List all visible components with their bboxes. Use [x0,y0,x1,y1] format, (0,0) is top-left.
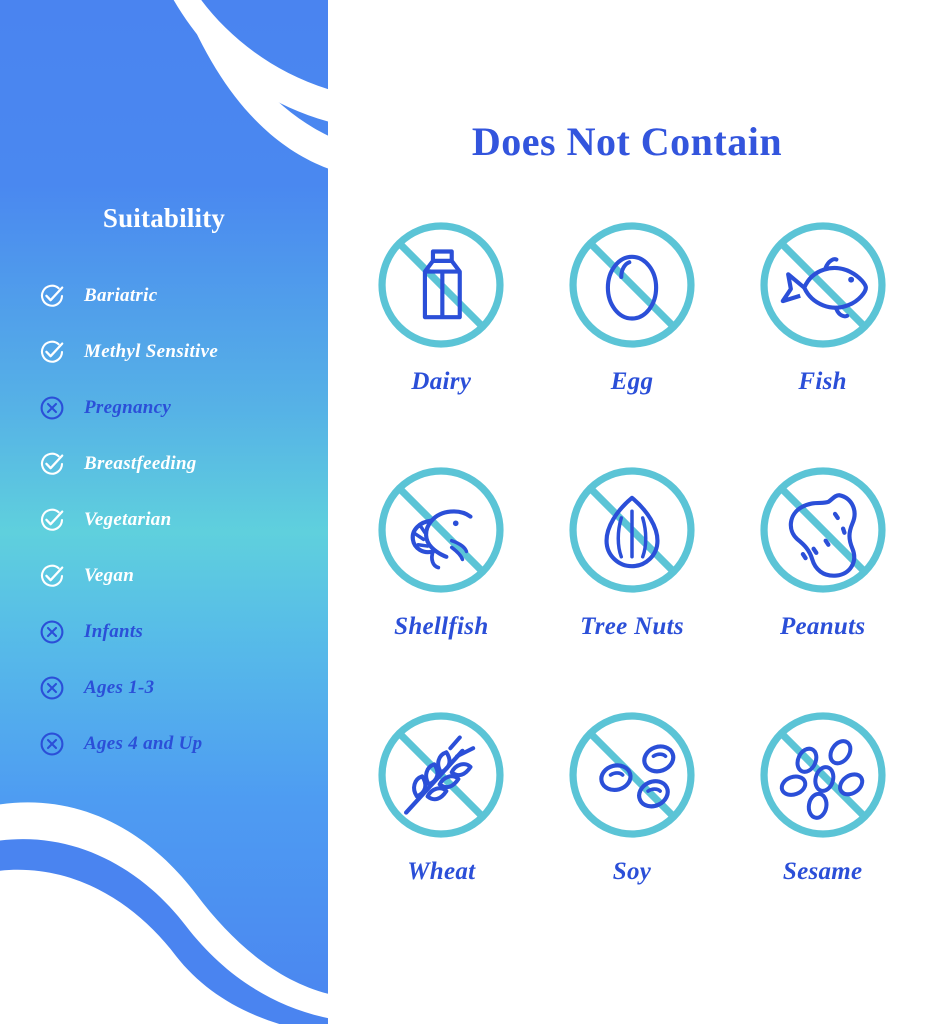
suitability-item-label: Pregnancy [84,397,171,419]
suitability-item-label: Ages 4 and Up [84,733,202,755]
allergen-cell-soy[interactable]: Soy [537,708,728,953]
allergen-cell-fish[interactable]: Fish [727,218,918,463]
x-circle-icon [38,618,66,646]
x-circle-icon [38,394,66,422]
allergen-label: Shellfish [394,613,488,641]
allergen-label: Soy [613,858,651,886]
allergen-label: Sesame [783,858,863,886]
allergen-label: Tree Nuts [580,613,684,641]
suitability-item-label: Vegan [84,565,134,587]
fish-icon [756,218,890,352]
suitability-item-label: Methyl Sensitive [84,341,218,363]
milk-carton-icon [374,218,508,352]
check-circle-icon [38,506,66,534]
check-circle-icon [38,450,66,478]
does-not-contain-panel: Does Not Contain DairyEggFishShellfishTr… [328,0,926,1024]
allergen-cell-tree-nuts[interactable]: Tree Nuts [537,463,728,708]
suitability-heading: Suitability [0,203,328,234]
egg-icon [565,218,699,352]
suitability-item-label: Breastfeeding [84,453,197,475]
x-circle-icon [38,730,66,758]
suitability-item-bariatric[interactable]: Bariatric [38,268,328,324]
allergen-cell-shellfish[interactable]: Shellfish [346,463,537,708]
suitability-sidebar: Suitability BariatricMethyl SensitivePre… [0,0,328,1024]
allergen-cell-peanuts[interactable]: Peanuts [727,463,918,708]
suitability-item-ages-4-and-up[interactable]: Ages 4 and Up [38,716,328,772]
check-circle-icon [38,282,66,310]
sesame-seeds-icon [756,708,890,842]
wheat-icon [374,708,508,842]
allergen-label: Fish [798,368,846,396]
allergen-label: Wheat [407,858,475,886]
allergen-cell-wheat[interactable]: Wheat [346,708,537,953]
allergen-cell-dairy[interactable]: Dairy [346,218,537,463]
suitability-item-ages-1-3[interactable]: Ages 1-3 [38,660,328,716]
shrimp-icon [374,463,508,597]
suitability-item-infants[interactable]: Infants [38,604,328,660]
allergen-cell-egg[interactable]: Egg [537,218,728,463]
suitability-item-vegan[interactable]: Vegan [38,548,328,604]
suitability-item-methyl-sensitive[interactable]: Methyl Sensitive [38,324,328,380]
allergen-label: Dairy [411,368,471,396]
suitability-item-pregnancy[interactable]: Pregnancy [38,380,328,436]
allergen-label: Egg [611,368,654,396]
check-circle-icon [38,562,66,590]
check-circle-icon [38,338,66,366]
suitability-item-breastfeeding[interactable]: Breastfeeding [38,436,328,492]
suitability-list: BariatricMethyl SensitivePregnancyBreast… [38,268,328,772]
suitability-item-label: Bariatric [84,285,157,307]
soybean-icon [565,708,699,842]
allergen-cell-sesame[interactable]: Sesame [727,708,918,953]
peanut-icon [756,463,890,597]
allergen-grid: DairyEggFishShellfishTree NutsPeanutsWhe… [346,218,918,953]
suitability-item-vegetarian[interactable]: Vegetarian [38,492,328,548]
suitability-item-label: Vegetarian [84,509,171,531]
does-not-contain-heading: Does Not Contain [328,118,926,165]
suitability-item-label: Ages 1-3 [84,677,154,699]
almond-icon [565,463,699,597]
x-circle-icon [38,674,66,702]
allergen-label: Peanuts [780,613,865,641]
suitability-allergen-infographic: Suitability BariatricMethyl SensitivePre… [0,0,926,1024]
suitability-item-label: Infants [84,621,143,643]
